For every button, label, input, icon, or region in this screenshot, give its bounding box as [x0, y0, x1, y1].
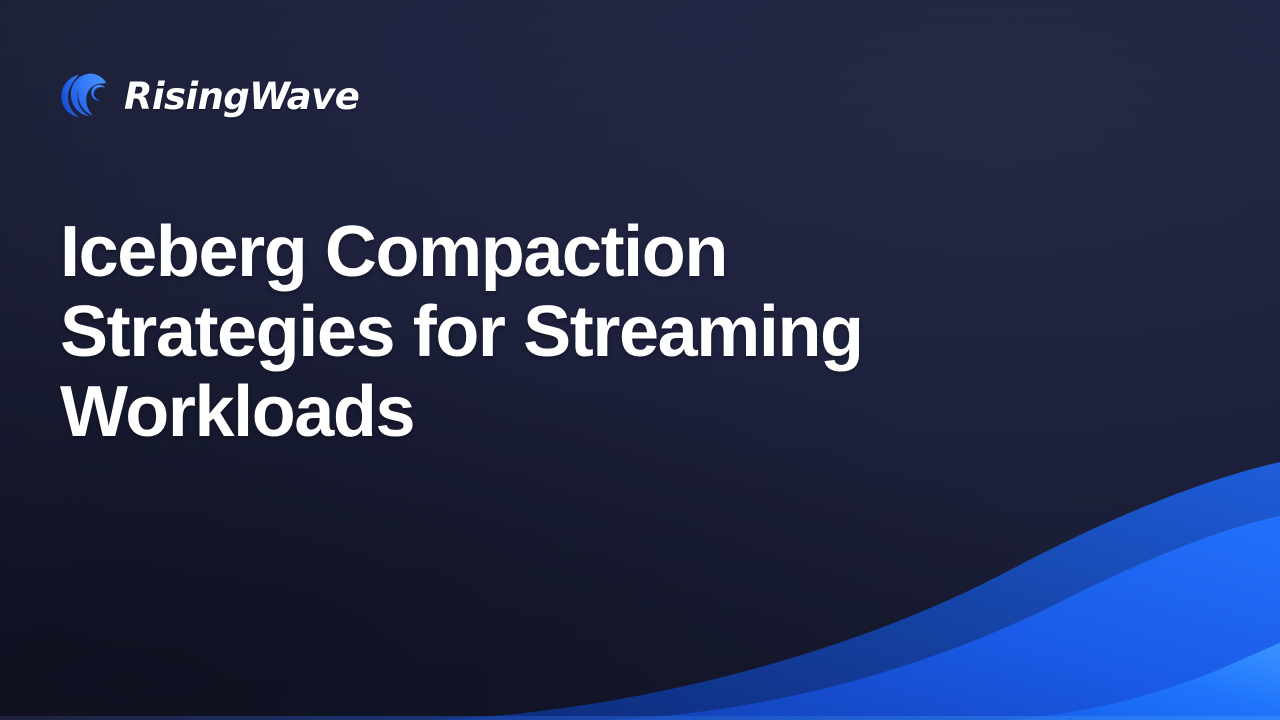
slide-title: Iceberg Compaction Strategies for Stream…: [60, 212, 920, 452]
brand-logo: RisingWave: [56, 68, 359, 124]
wave-band-middle: [596, 516, 1280, 720]
wave-band-front: [1006, 643, 1280, 720]
bottom-edge-highlight: [0, 716, 1280, 720]
title-line-3: Workloads: [60, 372, 920, 452]
brand-wordmark: RisingWave: [124, 78, 359, 115]
title-line-2: Strategies for Streaming: [60, 292, 920, 372]
title-line-1: Iceberg Compaction: [60, 212, 920, 292]
title-block: Iceberg Compaction Strategies for Stream…: [60, 212, 920, 452]
slide: RisingWave Iceberg Compaction Strategies…: [0, 0, 1280, 720]
rising-wave-logo-icon: [56, 68, 112, 124]
wave-band-back: [430, 462, 1280, 720]
